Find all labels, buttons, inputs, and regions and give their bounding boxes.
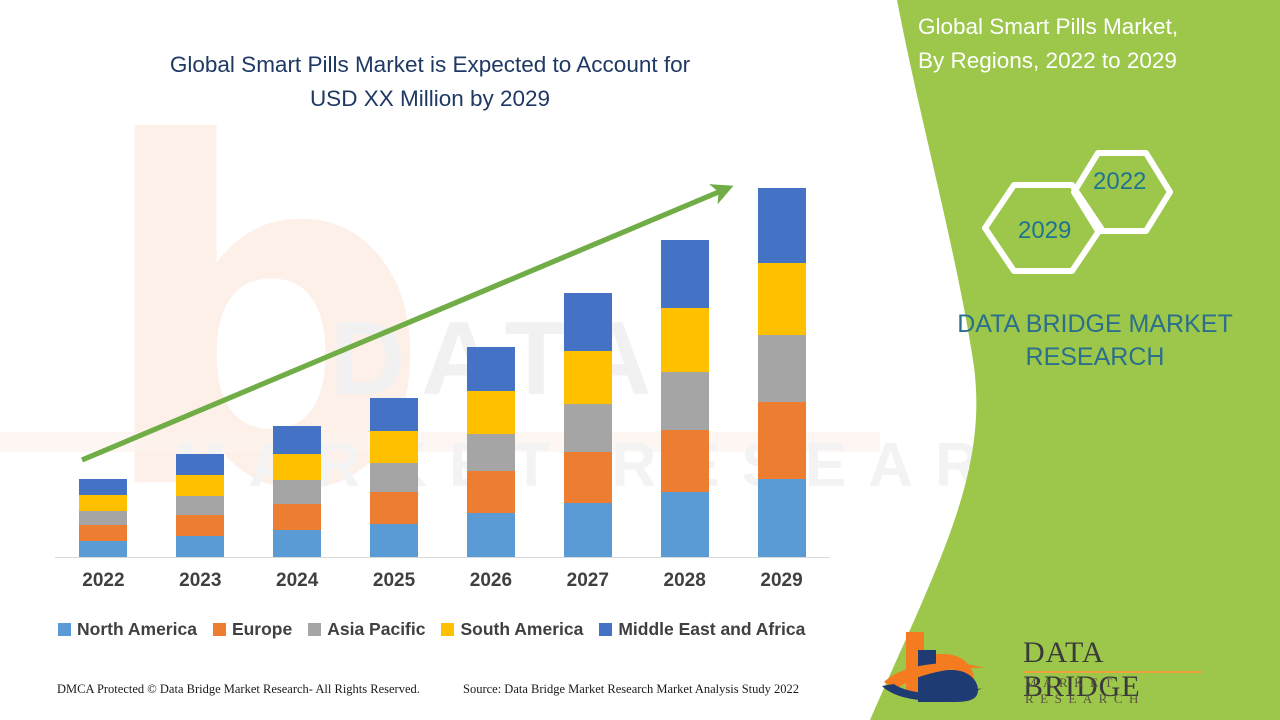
bar-segment	[176, 454, 224, 476]
stacked-bar[interactable]	[564, 293, 612, 558]
legend-item[interactable]: South America	[441, 619, 583, 640]
bar-segment	[467, 391, 515, 434]
legend-label: South America	[460, 619, 583, 640]
panel-title: Global Smart Pills Market, By Regions, 2…	[918, 10, 1268, 78]
x-axis-label-2024: 2024	[249, 570, 345, 592]
bar-segment	[370, 524, 418, 558]
stacked-bar[interactable]	[370, 398, 418, 558]
bar-segment	[79, 495, 127, 511]
bar-segment	[467, 347, 515, 391]
source-note: Source: Data Bridge Market Research Mark…	[463, 682, 799, 697]
bar-segment	[273, 530, 321, 558]
logo-divider	[1024, 671, 1202, 673]
legend-label: Middle East and Africa	[618, 619, 805, 640]
bar-segment	[370, 431, 418, 464]
bar-segment	[564, 503, 612, 558]
bar-segment	[370, 492, 418, 524]
legend-swatch-icon	[441, 623, 454, 636]
x-axis-label-2025: 2025	[346, 570, 442, 592]
bar-segment	[79, 511, 127, 525]
bar-segment	[273, 426, 321, 454]
bar-segment	[273, 504, 321, 530]
legend-item[interactable]: Middle East and Africa	[599, 619, 805, 640]
page-title-line-1: Global Smart Pills Market is Expected to…	[80, 48, 780, 82]
stacked-bar[interactable]	[79, 479, 127, 558]
stacked-bar[interactable]	[176, 454, 224, 558]
copyright-notice: DMCA Protected © Data Bridge Market Rese…	[57, 682, 420, 697]
x-axis-label-2026: 2026	[443, 570, 539, 592]
x-axis-label-2028: 2028	[637, 570, 733, 592]
legend-item[interactable]: Asia Pacific	[308, 619, 425, 640]
x-axis-label-2023: 2023	[152, 570, 248, 592]
legend-item[interactable]: Europe	[213, 619, 292, 640]
hexagon-2029-label: 2029	[1018, 217, 1071, 245]
chart-panel: Global Smart Pills Market is Expected to…	[0, 0, 860, 720]
data-bridge-logo: DATA BRIDGE MARKET RESEARCH	[878, 630, 1208, 704]
hexagon-outlines	[970, 140, 1200, 295]
bar-segment	[370, 398, 418, 431]
brand-name-line-1: DATA BRIDGE MARKET	[930, 308, 1260, 341]
bar-segment	[661, 492, 709, 558]
bar-segment	[273, 454, 321, 481]
hexagon-2022-label: 2022	[1093, 168, 1146, 196]
x-axis-labels: 20222023202420252026202720282029	[55, 570, 830, 600]
legend-label: North America	[77, 619, 197, 640]
x-axis-line	[55, 557, 830, 558]
panel-title-line-2: By Regions, 2022 to 2029	[918, 44, 1268, 78]
bar-segment	[176, 515, 224, 536]
bar-segment	[467, 513, 515, 558]
logo-mark-icon	[878, 630, 1018, 704]
stacked-bar-plot	[55, 160, 830, 558]
bar-segment	[661, 240, 709, 309]
bar-segment	[79, 541, 127, 558]
page-title-line-2: USD XX Million by 2029	[80, 82, 780, 116]
bar-segment	[661, 372, 709, 430]
bar-segment	[564, 293, 612, 351]
bar-segment	[273, 480, 321, 504]
legend-swatch-icon	[213, 623, 226, 636]
brand-panel: Global Smart Pills Market, By Regions, 2…	[790, 0, 1280, 720]
bar-segment	[370, 463, 418, 492]
bar-segment	[564, 351, 612, 404]
legend-swatch-icon	[599, 623, 612, 636]
legend-swatch-icon	[58, 623, 71, 636]
slide-canvas: b DATA MARKET RESEARCH Global Smart Pill…	[0, 0, 1280, 720]
panel-title-line-1: Global Smart Pills Market,	[918, 10, 1268, 44]
hexagon-badges: 2022 2029	[970, 140, 1200, 295]
bar-segment	[661, 430, 709, 493]
bar-segment	[176, 496, 224, 515]
legend-label: Asia Pacific	[327, 619, 425, 640]
bar-segment	[467, 471, 515, 513]
bar-segment	[176, 536, 224, 558]
bar-segment	[661, 308, 709, 372]
stacked-bar[interactable]	[661, 240, 709, 558]
logo-tagline: MARKET RESEARCH	[1025, 675, 1208, 707]
stacked-bar[interactable]	[273, 426, 321, 558]
chart-legend: North AmericaEuropeAsia PacificSouth Ame…	[58, 616, 848, 642]
bar-segment	[564, 404, 612, 452]
legend-item[interactable]: North America	[58, 619, 197, 640]
bar-segment	[467, 434, 515, 472]
bar-segment	[79, 479, 127, 495]
brand-name: DATA BRIDGE MARKET RESEARCH	[930, 308, 1260, 374]
bar-segment	[176, 475, 224, 496]
bar-segment	[564, 452, 612, 504]
x-axis-label-2027: 2027	[540, 570, 636, 592]
legend-swatch-icon	[308, 623, 321, 636]
legend-label: Europe	[232, 619, 292, 640]
brand-name-line-2: RESEARCH	[930, 341, 1260, 374]
x-axis-label-2022: 2022	[55, 570, 151, 592]
page-title: Global Smart Pills Market is Expected to…	[80, 48, 780, 116]
stacked-bar[interactable]	[467, 347, 515, 558]
bar-segment	[79, 525, 127, 541]
